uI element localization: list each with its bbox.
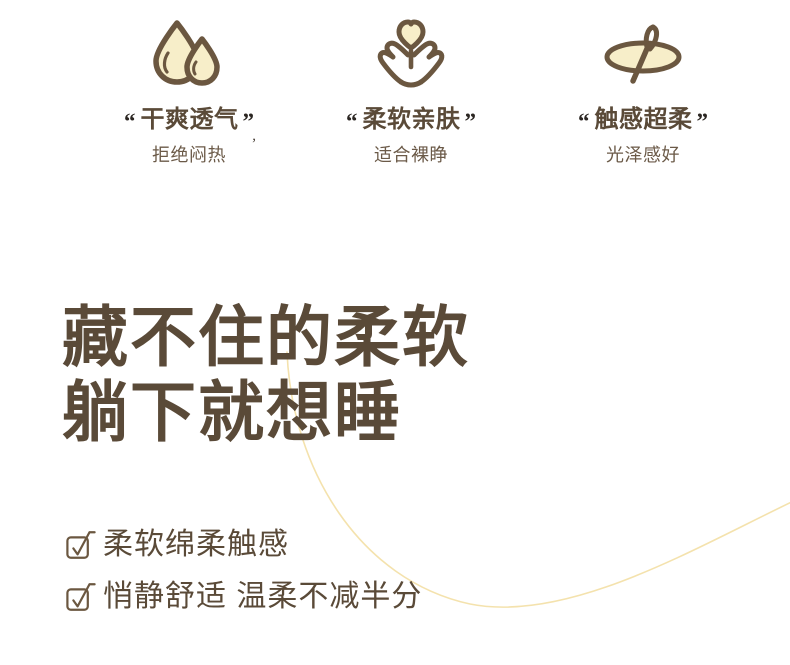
stray-comma-mark: ,: [252, 129, 256, 144]
feature-title: “ 触感超柔 ”: [578, 108, 708, 132]
list-item-label: 悄静舒适 温柔不减半分: [103, 582, 422, 612]
open-quote-mark: “: [578, 110, 590, 133]
feature-subtitle: 适合裸睁: [374, 141, 448, 167]
feature-subtitle: 光泽感好: [606, 141, 680, 167]
feature-title-text: 触感超柔: [595, 108, 693, 132]
checkbox-checked-icon: [64, 580, 98, 614]
close-quote-mark: ”: [697, 110, 709, 133]
feature-title: “ 柔软亲肤 ”: [346, 108, 476, 132]
feature-bullet-list: 柔软绵柔触感 悄静舒适 温柔不减半分: [64, 519, 422, 623]
needle-through-fabric-icon: [595, 8, 691, 100]
list-item: 悄静舒适 温柔不减半分: [64, 571, 422, 623]
close-quote-mark: ”: [465, 110, 477, 133]
open-quote-mark: “: [346, 110, 358, 133]
headline-block: 藏不住的柔软 躺下就想睡: [62, 300, 470, 450]
headline-line-1: 藏不住的柔软: [62, 300, 470, 375]
feature-item-dry-breathable: “ 干爽透气 ” , 拒绝闷热: [74, 8, 304, 167]
headline-line-2: 躺下就想睡: [62, 375, 470, 450]
feature-item-ultra-soft-touch: “ 触感超柔 ” 光泽感好: [528, 8, 758, 167]
feature-title: “ 干爽透气 ” ,: [124, 108, 254, 132]
open-quote-mark: “: [124, 110, 136, 133]
heart-in-hands-icon: [368, 8, 454, 100]
list-item-label: 柔软绵柔触感: [103, 530, 289, 560]
feature-subtitle: 拒绝闷热: [152, 141, 226, 167]
feature-item-soft-skin-friendly: “ 柔软亲肤 ” 适合裸睁: [296, 8, 526, 167]
list-item: 柔软绵柔触感: [64, 519, 422, 571]
feature-row: “ 干爽透气 ” , 拒绝闷热: [0, 8, 790, 167]
feature-title-text: 柔软亲肤: [363, 108, 461, 132]
water-droplets-icon: [146, 8, 232, 100]
feature-title-text: 干爽透气: [141, 108, 239, 132]
promo-banner: “ 干爽透气 ” , 拒绝闷热: [0, 0, 790, 665]
checkbox-checked-icon: [64, 528, 98, 562]
